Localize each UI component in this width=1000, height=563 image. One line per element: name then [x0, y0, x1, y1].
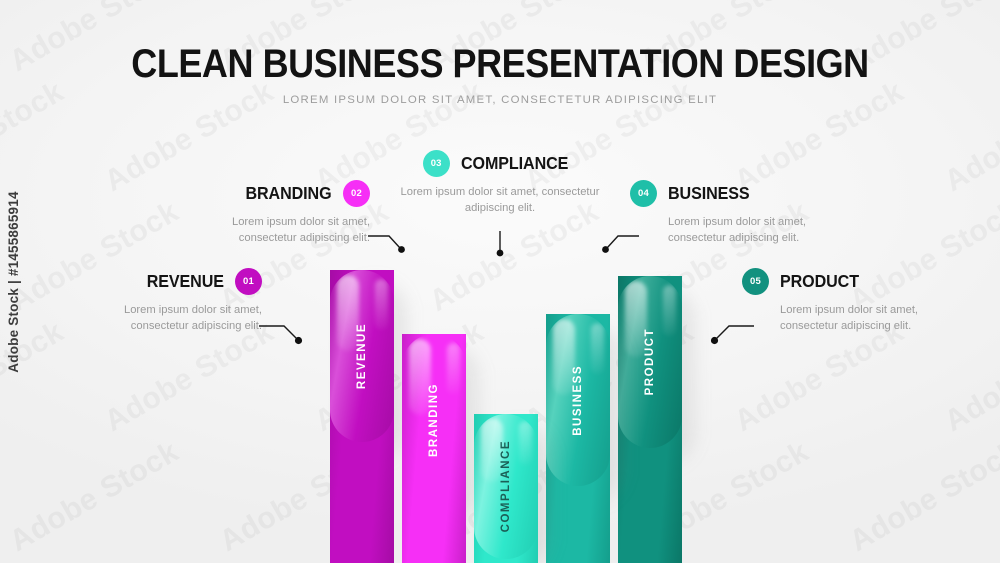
bar-product[interactable]: PRODUCT — [618, 276, 682, 563]
header: CLEAN BUSINESS PRESENTATION DESIGN LOREM… — [0, 44, 1000, 106]
watermark-text: Adobe Stock — [424, 435, 605, 559]
bar-stem — [474, 414, 538, 563]
bar-branding[interactable]: BRANDING — [402, 334, 466, 563]
capsule-highlight-secondary — [447, 343, 460, 395]
watermark-text: Adobe Stock — [634, 435, 815, 559]
bar-label-product: PRODUCT — [644, 328, 656, 395]
capsule-highlight-secondary — [591, 323, 604, 375]
bar-shadow — [634, 288, 694, 463]
watermark-text: Adobe Stock — [519, 555, 700, 563]
capsule-highlight-secondary — [375, 279, 388, 331]
connector-compliance — [492, 230, 508, 260]
bar-shadow — [418, 346, 478, 521]
capsule-highlight — [553, 319, 575, 395]
bar-capsule-branding: BRANDING — [402, 334, 466, 506]
watermark-text: Adobe Stock — [729, 555, 910, 563]
capsule-highlight — [481, 418, 503, 482]
watermark-text: Adobe Stock — [4, 435, 185, 559]
infographic-canvas: Adobe StockAdobe StockAdobe StockAdobe S… — [0, 0, 1000, 563]
bar-stem — [330, 270, 394, 563]
capsule-highlight — [625, 281, 647, 357]
bar-capsule-product: PRODUCT — [618, 276, 682, 448]
callout-compliance[interactable]: 03 COMPLIANCE Lorem ipsum dolor sit amet… — [400, 150, 600, 216]
bar-shadow — [490, 426, 550, 563]
callout-title-business: BUSINESS — [668, 183, 750, 204]
callout-description-compliance: Lorem ipsum dolor sit amet, consectetur … — [400, 184, 600, 216]
callout-badge-04: 04 — [630, 180, 657, 207]
capsule-highlight-secondary — [663, 285, 676, 337]
watermark-text: Adobe Stock — [519, 315, 700, 439]
page-title: CLEAN BUSINESS PRESENTATION DESIGN — [50, 44, 950, 85]
bar-capsule-compliance: COMPLIANCE — [474, 414, 538, 559]
bar-revenue[interactable]: REVENUE — [330, 270, 394, 563]
bar-stem — [618, 276, 682, 563]
callout-description-product: Lorem ipsum dolor sit amet, consectetur … — [780, 302, 952, 334]
watermark-text: Adobe Stock — [0, 555, 70, 563]
callout-title-product: PRODUCT — [780, 271, 859, 292]
capsule-highlight — [337, 275, 359, 351]
bar-stem — [402, 334, 466, 563]
callout-revenue[interactable]: REVENUE 01 Lorem ipsum dolor sit amet, c… — [56, 268, 262, 334]
callout-badge-02: 02 — [343, 180, 370, 207]
watermark-text: Adobe Stock — [939, 555, 1000, 563]
bar-shadow — [346, 282, 406, 457]
callout-business[interactable]: 04 BUSINESS Lorem ipsum dolor sit amet, … — [630, 180, 840, 246]
callout-badge-05: 05 — [742, 268, 769, 295]
capsule-highlight-secondary — [519, 421, 532, 465]
bar-capsule-business: BUSINESS — [546, 314, 610, 486]
bar-shadow — [562, 326, 622, 501]
bar-business[interactable]: BUSINESS — [546, 314, 610, 563]
stock-credit-label: Adobe Stock | #1455865914 — [6, 191, 21, 372]
callout-title-compliance: COMPLIANCE — [461, 153, 568, 174]
callout-description-business: Lorem ipsum dolor sit amet, consectetur … — [668, 214, 840, 246]
bar-label-revenue: REVENUE — [356, 323, 368, 389]
callout-title-revenue: REVENUE — [147, 271, 224, 292]
connector-branding — [367, 233, 411, 255]
callout-branding[interactable]: BRANDING 02 Lorem ipsum dolor sit amet, … — [160, 180, 370, 246]
bar-label-business: BUSINESS — [572, 365, 584, 436]
bar-label-compliance: COMPLIANCE — [500, 440, 512, 532]
callout-badge-01: 01 — [235, 268, 262, 295]
bar-stem — [546, 314, 610, 563]
bar-label-branding: BRANDING — [428, 383, 440, 457]
callout-product[interactable]: 05 PRODUCT Lorem ipsum dolor sit amet, c… — [742, 268, 952, 334]
bar-capsule-revenue: REVENUE — [330, 270, 394, 442]
connector-revenue — [258, 322, 308, 346]
callout-description-revenue: Lorem ipsum dolor sit amet, consectetur … — [84, 302, 262, 334]
watermark-text: Adobe Stock — [309, 315, 490, 439]
watermark-text: Adobe Stock — [99, 555, 280, 563]
callout-title-branding: BRANDING — [246, 183, 332, 204]
watermark-text: Adobe Stock — [844, 435, 1000, 559]
page-subtitle: LOREM IPSUM DOLOR SIT AMET, CONSECTETUR … — [0, 94, 1000, 106]
callout-badge-03: 03 — [423, 150, 450, 177]
callout-description-branding: Lorem ipsum dolor sit amet, consectetur … — [192, 214, 370, 246]
watermark-text: Adobe Stock — [309, 555, 490, 563]
watermark-text: Adobe Stock — [214, 435, 395, 559]
bar-compliance[interactable]: COMPLIANCE — [474, 414, 538, 563]
capsule-highlight — [409, 339, 431, 415]
